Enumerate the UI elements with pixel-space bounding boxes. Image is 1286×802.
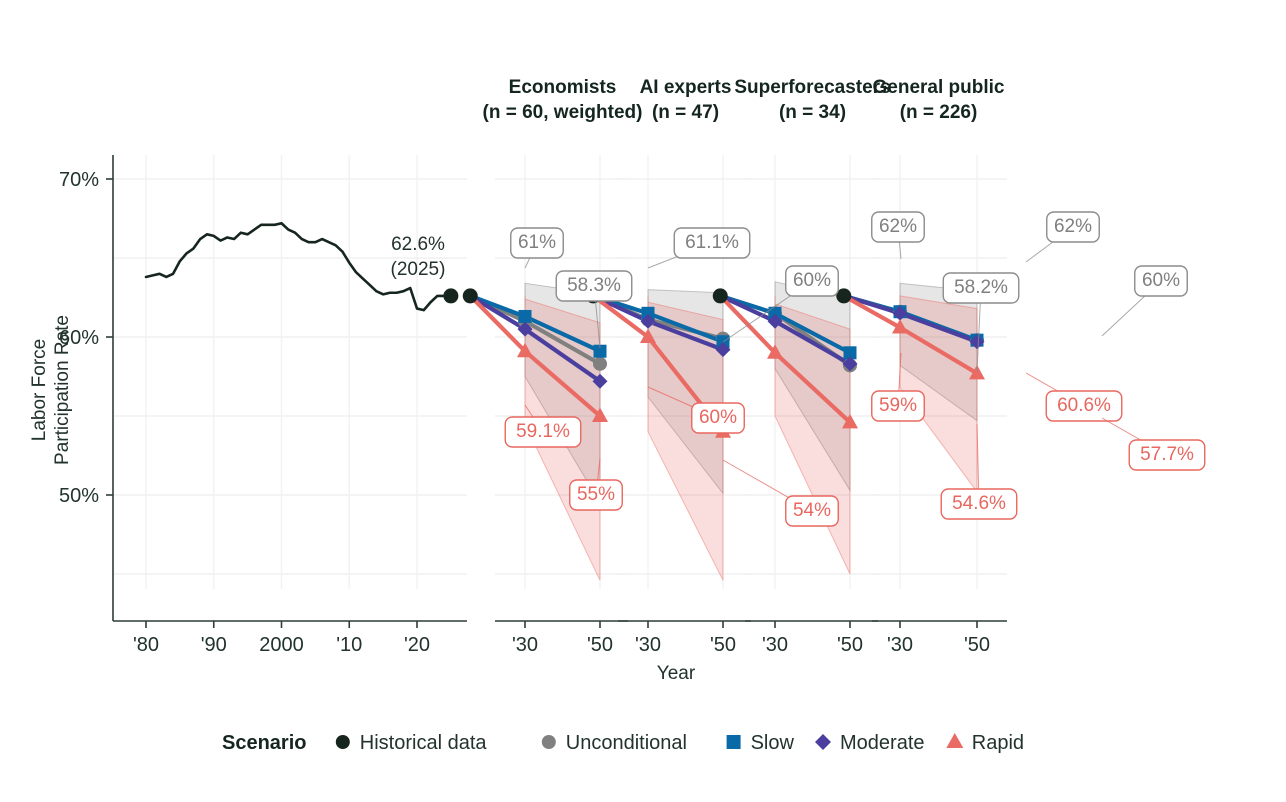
value-label-text: 60.6% — [1057, 395, 1111, 416]
legend-marker-triangle — [946, 733, 963, 748]
panel-subtitle: (n = 226) — [900, 102, 978, 123]
x-tick-label: '30 — [887, 634, 913, 656]
x-tick-label: '50 — [964, 634, 990, 656]
x-tick-label: '90 — [201, 634, 227, 656]
legend-item-label: Rapid — [972, 732, 1024, 754]
legend-marker-circle — [336, 735, 350, 749]
forecast-panel — [586, 288, 731, 580]
historical-panel: 62.6%(2025) — [146, 223, 458, 310]
value-label-text: 61.1% — [685, 232, 739, 253]
x-tick-label: '50 — [837, 634, 863, 656]
y-axis-title-line1: Labor Force — [29, 339, 50, 441]
legend-item-label: Moderate — [840, 732, 925, 754]
x-tick-label: 2000 — [259, 634, 304, 656]
y-tick-label: 70% — [59, 169, 99, 191]
legend-item-label: Slow — [751, 732, 795, 754]
legend-marker-circle — [542, 735, 556, 749]
x-tick-label: '80 — [133, 634, 159, 656]
x-tick-label: '30 — [762, 634, 788, 656]
value-label: 60% — [1102, 266, 1187, 336]
x-tick-label: '50 — [710, 634, 736, 656]
value-label: 62% — [872, 212, 925, 259]
legend-item[interactable]: Moderate — [815, 732, 925, 754]
value-label-text: 62% — [1054, 216, 1092, 237]
value-label-text: 58.2% — [954, 277, 1008, 298]
value-label-text: 58.3% — [567, 275, 621, 296]
chart-root: 62.6%(2025) 70%60%50%'80'902000'10'20'30… — [0, 0, 1286, 802]
legend-item[interactable]: Unconditional — [542, 732, 687, 754]
value-label-text: 62% — [879, 216, 917, 237]
x-tick-label: '30 — [635, 634, 661, 656]
legend: ScenarioHistorical dataUnconditionalSlow… — [222, 732, 1024, 754]
value-label: 61% — [511, 228, 564, 268]
value-label-text: 59% — [879, 395, 917, 416]
legend-item[interactable]: Historical data — [336, 732, 488, 754]
legend-item[interactable]: Slow — [727, 732, 795, 754]
panel-titles-layer: Economists(n = 60, weighted)AI experts(n… — [483, 77, 1005, 123]
value-label-text: 54% — [793, 500, 831, 521]
panel-title: General public — [873, 77, 1005, 98]
historical-endpoint-value: 62.6% — [391, 234, 445, 255]
panel-anchor-marker — [463, 288, 478, 303]
value-label: 61.1% — [648, 228, 750, 268]
forecast-panel — [836, 283, 985, 492]
legend-marker-square — [727, 735, 741, 749]
value-label: 62% — [1026, 212, 1099, 262]
panel-title: AI experts — [640, 77, 732, 98]
value-label: 60.6% — [1026, 373, 1122, 421]
labor-force-participation-chart: 62.6%(2025) 70%60%50%'80'902000'10'20'30… — [0, 0, 1286, 802]
legend-item[interactable]: Rapid — [946, 732, 1024, 754]
x-tick-label: '10 — [336, 634, 362, 656]
value-label-text: 60% — [699, 407, 737, 428]
panel-anchor-marker — [713, 288, 728, 303]
legend-item-label: Historical data — [360, 732, 488, 754]
value-label-text: 54.6% — [952, 493, 1006, 514]
scenario-marker-square — [519, 310, 532, 323]
panel-subtitle: (n = 60, weighted) — [483, 102, 643, 123]
legend-title: Scenario — [222, 732, 306, 754]
x-tick-label: '50 — [587, 634, 613, 656]
value-label-text: 60% — [793, 270, 831, 291]
value-label-text: 59.1% — [516, 421, 570, 442]
panel-title: Superforecasters — [734, 77, 890, 98]
x-tick-label: '30 — [512, 634, 538, 656]
historical-endpoint-marker — [443, 288, 458, 303]
x-axis-title: Year — [657, 663, 696, 684]
x-tick-label: '20 — [404, 634, 430, 656]
y-tick-label: 50% — [59, 485, 99, 507]
value-label-text: 55% — [577, 484, 615, 505]
value-label-text: 61% — [518, 232, 556, 253]
panel-subtitle: (n = 47) — [652, 102, 719, 123]
historical-endpoint-year: (2025) — [391, 259, 446, 280]
value-label: 57.7% — [1102, 418, 1205, 470]
panel-subtitle: (n = 34) — [779, 102, 846, 123]
legend-item-label: Unconditional — [566, 732, 687, 754]
panel-title: Economists — [509, 77, 617, 98]
value-label-text: 57.7% — [1140, 444, 1194, 465]
y-axis-title-line2: Participation Rate — [52, 315, 73, 465]
value-label-text: 60% — [1142, 270, 1180, 291]
scenario-marker-circle — [593, 357, 607, 371]
legend-marker-diamond — [815, 734, 831, 750]
